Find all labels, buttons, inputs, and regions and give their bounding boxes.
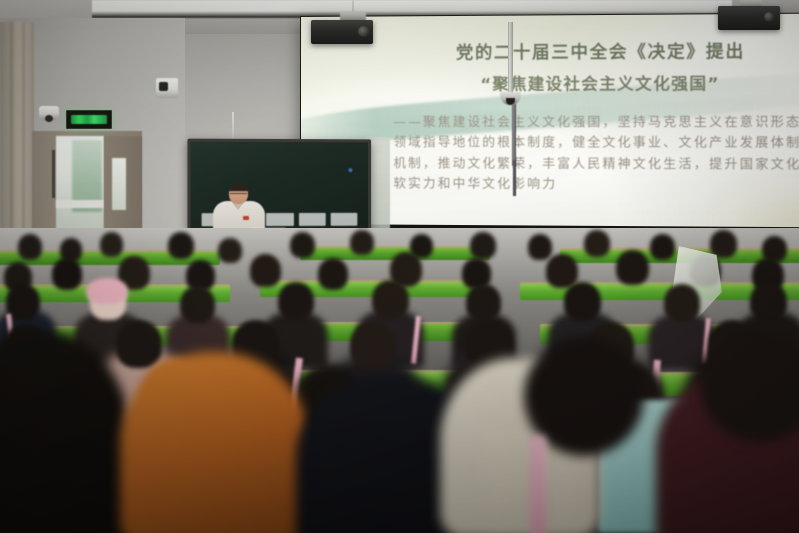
projector-lens-icon [358, 26, 369, 37]
wall-camera-icon [39, 106, 59, 120]
audience-head [564, 282, 601, 321]
emergency-exit-sign [66, 110, 112, 129]
audience-head [664, 284, 700, 322]
camera-pole-lower [512, 104, 516, 166]
door-handle[interactable] [52, 150, 55, 198]
projector-lens-icon [764, 12, 774, 22]
wall-camera-icon [156, 78, 178, 98]
audience-head [52, 258, 82, 290]
lanyard-strap-foreground [530, 436, 546, 533]
whiteboard-button[interactable] [299, 212, 326, 225]
whiteboard-button[interactable] [266, 212, 293, 225]
exit-sign-icon [71, 115, 107, 124]
audience-head [318, 258, 348, 290]
audience-head [372, 280, 409, 319]
slide-subtitle: “聚焦建设社会主义文化强国” [401, 69, 799, 94]
corridor-sill [56, 200, 104, 208]
foreground-person-auburn-hair [120, 352, 310, 533]
display-indicator-icon [348, 168, 352, 172]
floral-hair-accessory [86, 278, 128, 304]
audience-head [168, 232, 194, 259]
audience-head [100, 232, 123, 257]
audience-head [350, 230, 374, 255]
audience-head [18, 234, 42, 260]
slide-body-text: ——聚焦建设社会主义文化强国，坚持马克思主义在意识形态 领域指导地位的根本制度，… [393, 112, 799, 196]
slide-title: 党的二十届三中全会《决定》提出 [401, 36, 799, 63]
audience-head [466, 284, 501, 321]
audience-head [218, 238, 242, 263]
audience-head [528, 234, 552, 260]
audience-head [116, 320, 162, 368]
audience-head [290, 232, 315, 258]
audience-head [250, 254, 281, 287]
audience-head [616, 250, 649, 285]
audience-head [584, 230, 610, 257]
whiteboard-button[interactable] [331, 212, 358, 225]
lecture-hall-photo: 党的二十届三中全会《决定》提出 “聚焦建设社会主义文化强国” ——聚焦建设社会主… [0, 0, 799, 533]
audience-head [278, 282, 314, 320]
audience-head [180, 286, 215, 323]
camera-pole [508, 22, 513, 94]
camera-pole-tip [513, 160, 516, 196]
lecturer-glasses-icon [230, 193, 247, 198]
audience-head [710, 230, 737, 258]
audience-head [350, 322, 396, 370]
audience-head [750, 282, 787, 321]
audience-head [650, 234, 675, 260]
audience-head [470, 232, 496, 259]
door-vision-panel [112, 158, 126, 210]
lecturer-badge [243, 216, 249, 220]
